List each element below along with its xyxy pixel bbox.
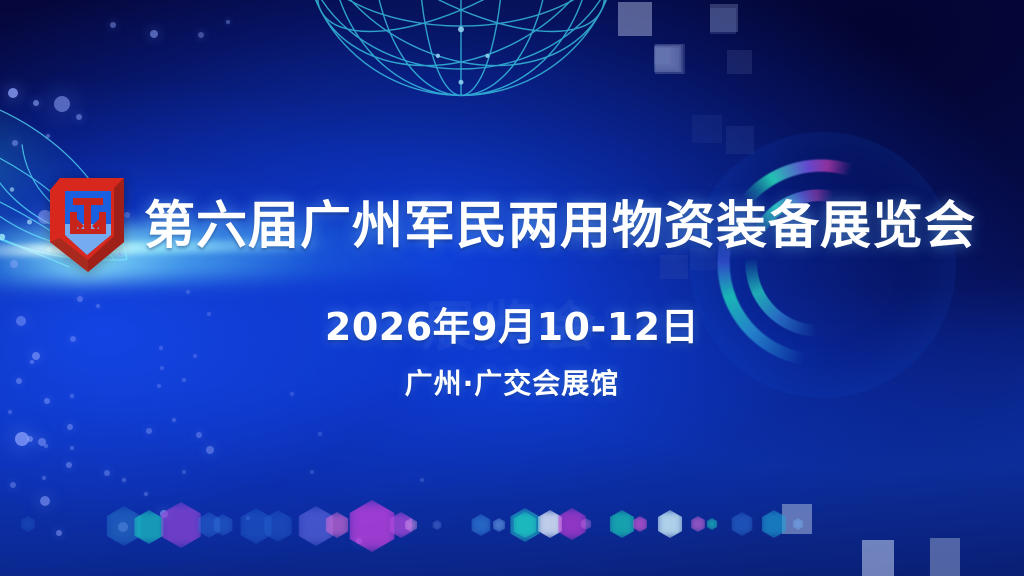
particle-dot (44, 444, 48, 448)
bokeh-hexagon (580, 518, 592, 530)
particle-dot (104, 470, 110, 476)
particle-dot (54, 96, 70, 112)
translucent-square (656, 48, 681, 72)
translucent-square (726, 126, 754, 154)
translucent-square (692, 115, 722, 143)
translucent-square (654, 48, 670, 64)
translucent-square (654, 46, 679, 70)
particle-dot (196, 432, 202, 438)
particle-dot (46, 134, 50, 138)
translucent-square (655, 46, 683, 74)
particle-dot (144, 492, 148, 496)
bokeh-hexagon (792, 518, 804, 530)
particle-dot (38, 438, 46, 446)
bokeh-hexagon (492, 518, 506, 532)
event-poster: 展览会 (0, 0, 1024, 576)
translucent-square (654, 45, 681, 72)
translucent-square (862, 540, 894, 576)
bokeh-hexagon (656, 510, 684, 538)
particle-dot (70, 446, 74, 450)
translucent-square (654, 47, 672, 65)
particle-dot (182, 470, 186, 474)
bokeh-hexagon (632, 516, 648, 532)
particle-dot (12, 140, 18, 146)
bokeh-hexagon (104, 506, 144, 546)
bokeh-hexagon (346, 500, 398, 552)
translucent-square (655, 44, 683, 72)
bokeh-hexagon (508, 508, 542, 542)
bokeh-hexagon (512, 512, 538, 538)
exhibition-shield-logo-icon (44, 176, 128, 276)
translucent-square (782, 504, 812, 534)
bokeh-hexagon (388, 512, 414, 538)
particle-dot (8, 410, 12, 414)
particle-dot (226, 20, 230, 24)
particle-dot (118, 522, 128, 532)
translucent-square (710, 4, 738, 32)
particle-dot (150, 30, 158, 38)
bokeh-hexagon (556, 508, 588, 540)
bokeh-hexagon (404, 518, 418, 532)
event-date: 2026年9月10-12日 (0, 296, 1024, 351)
translucent-square (654, 46, 680, 72)
bokeh-hexagon (690, 516, 706, 532)
translucent-square (655, 47, 675, 67)
title-row: 第六届广州军民两用物资装备展览会 (44, 176, 976, 276)
particle-dot (420, 478, 424, 482)
bokeh-hexagon (212, 514, 234, 536)
translucent-square (930, 538, 960, 576)
translucent-square (656, 48, 678, 70)
particle-dot (110, 22, 116, 28)
bokeh-hexagon (296, 506, 336, 546)
bokeh-hexagon (238, 508, 274, 544)
bokeh-hexagon (706, 518, 718, 530)
hexagon-bokeh-strip (0, 494, 1024, 566)
particle-dot (172, 418, 176, 422)
particle-dot (56, 530, 62, 536)
particle-dot (318, 432, 322, 436)
particle-dot (67, 424, 73, 430)
particle-dot (66, 462, 72, 468)
bokeh-hexagon (132, 510, 166, 544)
particle-dot (160, 510, 168, 518)
bokeh-hexagon (536, 510, 564, 538)
particle-dot (42, 476, 46, 480)
event-venue: 广州·广交会展馆 (0, 362, 1024, 402)
particle-dot (8, 88, 18, 98)
page-title: 第六届广州军民两用物资装备展览会 (144, 201, 976, 252)
particle-dot (246, 516, 250, 520)
bokeh-hexagon (760, 510, 788, 538)
particle-dot (356, 538, 362, 544)
bokeh-hexagon (608, 510, 636, 538)
particle-dot (76, 114, 82, 120)
bokeh-hexagon (324, 512, 350, 538)
particle-dot (146, 428, 152, 434)
particle-dot (33, 100, 39, 106)
translucent-square (654, 45, 681, 72)
particle-dot (10, 260, 18, 268)
particle-dot (206, 446, 214, 454)
translucent-square (710, 8, 736, 34)
bokeh-hexagon (196, 512, 222, 538)
particle-dot (310, 470, 314, 474)
bokeh-hexagon (262, 510, 294, 542)
bokeh-hexagon (470, 514, 492, 536)
wireframe-globe-icon (296, 0, 626, 102)
translucent-square (655, 44, 685, 74)
particle-dot (122, 478, 126, 482)
particle-dot (27, 436, 33, 442)
particle-dot (10, 482, 16, 488)
particle-dot (198, 32, 204, 38)
translucent-square (618, 2, 652, 36)
particle-dot (40, 496, 50, 506)
particle-dot (15, 432, 29, 446)
bokeh-hexagon (432, 520, 442, 530)
translucent-square (727, 50, 752, 74)
bokeh-hexagon (20, 516, 36, 532)
bokeh-hexagon (158, 502, 204, 548)
bokeh-hexagon (730, 512, 754, 536)
